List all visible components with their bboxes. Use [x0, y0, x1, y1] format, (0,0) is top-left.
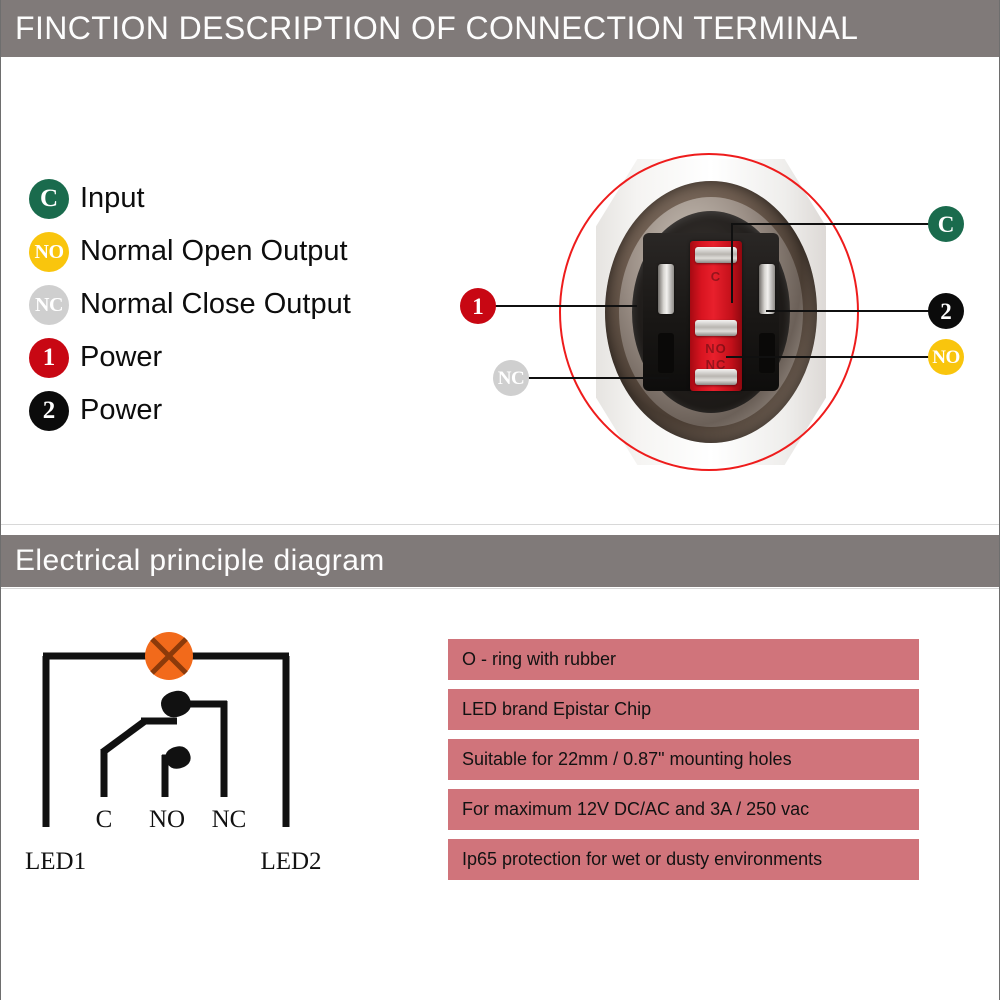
- legend-item-nc: NC Normal Close Output: [29, 278, 429, 331]
- feature-text-voltage-rating: For maximum 12V DC/AC and 3A / 250 vac: [448, 799, 809, 820]
- leader-line-2: [766, 310, 931, 312]
- section-title-terminal: FINCTION DESCRIPTION OF CONNECTION TERMI…: [1, 10, 858, 47]
- leader-line-1: [495, 305, 637, 307]
- diagram-label-led1: LED1: [25, 848, 86, 875]
- feature-text-mounting-hole: Suitable for 22mm / 0.87" mounting holes: [448, 749, 792, 770]
- leader-line-nc: [527, 377, 669, 379]
- legend-label-c: Input: [80, 182, 145, 215]
- feature-bar-oring: O - ring with rubber: [448, 639, 919, 680]
- diagram-label-led2: LED2: [260, 848, 321, 875]
- section-header-electrical: Electrical principle diagram: [1, 535, 1000, 587]
- circuit-schematic-svg: C NO NC LED1 LED2: [19, 615, 349, 885]
- legend-label-nc: Normal Close Output: [80, 288, 351, 321]
- legend-label-no: Normal Open Output: [80, 235, 348, 268]
- diagram-label-nc: NC: [212, 806, 247, 833]
- callout-badge-2: 2: [928, 293, 964, 329]
- legend-badge-nc: NC: [29, 285, 69, 325]
- callout-badge-c: C: [928, 206, 964, 242]
- product-spec-page: FINCTION DESCRIPTION OF CONNECTION TERMI…: [0, 0, 1000, 1000]
- legend-item-2: 2 Power: [29, 384, 429, 437]
- callout-badge-1: 1: [460, 288, 496, 324]
- highlight-circle: [559, 153, 859, 471]
- feature-list: O - ring with rubber LED brand Epistar C…: [448, 639, 919, 889]
- legend-label-2: Power: [80, 394, 162, 427]
- feature-text-led-chip: LED brand Epistar Chip: [448, 699, 651, 720]
- section-underline: [1, 588, 1000, 589]
- feature-bar-ip-rating: Ip65 protection for wet or dusty environ…: [448, 839, 919, 880]
- feature-bar-led-chip: LED brand Epistar Chip: [448, 689, 919, 730]
- callout-badge-no: NO: [928, 339, 964, 375]
- section-title-electrical: Electrical principle diagram: [1, 544, 385, 578]
- feature-bar-voltage-rating: For maximum 12V DC/AC and 3A / 250 vac: [448, 789, 919, 830]
- legend-badge-c: C: [29, 179, 69, 219]
- feature-text-ip-rating: Ip65 protection for wet or dusty environ…: [448, 849, 822, 870]
- legend-badge-2: 2: [29, 391, 69, 431]
- legend-badge-1: 1: [29, 338, 69, 378]
- section-divider: [1, 524, 1000, 525]
- wire-common-blade: [103, 721, 145, 752]
- leader-line-c-horizontal: [731, 223, 931, 225]
- product-photo-area: C NO NC 1 NC C 2 NO: [441, 145, 1000, 505]
- legend-badge-no: NO: [29, 232, 69, 272]
- leader-line-c-vertical: [731, 223, 733, 303]
- leader-line-no: [726, 356, 931, 358]
- terminal-legend: C Input NO Normal Open Output NC Normal …: [29, 172, 429, 437]
- feature-bar-mounting-hole: Suitable for 22mm / 0.87" mounting holes: [448, 739, 919, 780]
- legend-item-c: C Input: [29, 172, 429, 225]
- callout-badge-nc: NC: [493, 360, 529, 396]
- section-header-terminal: FINCTION DESCRIPTION OF CONNECTION TERMI…: [1, 0, 1000, 57]
- feature-text-oring: O - ring with rubber: [448, 649, 616, 670]
- diagram-label-no: NO: [149, 806, 185, 833]
- electrical-principle-diagram: C NO NC LED1 LED2: [19, 615, 349, 885]
- diagram-label-c: C: [96, 806, 113, 833]
- legend-item-1: 1 Power: [29, 331, 429, 384]
- legend-label-1: Power: [80, 341, 162, 374]
- contact-blob-upper: [161, 691, 191, 718]
- legend-item-no: NO Normal Open Output: [29, 225, 429, 278]
